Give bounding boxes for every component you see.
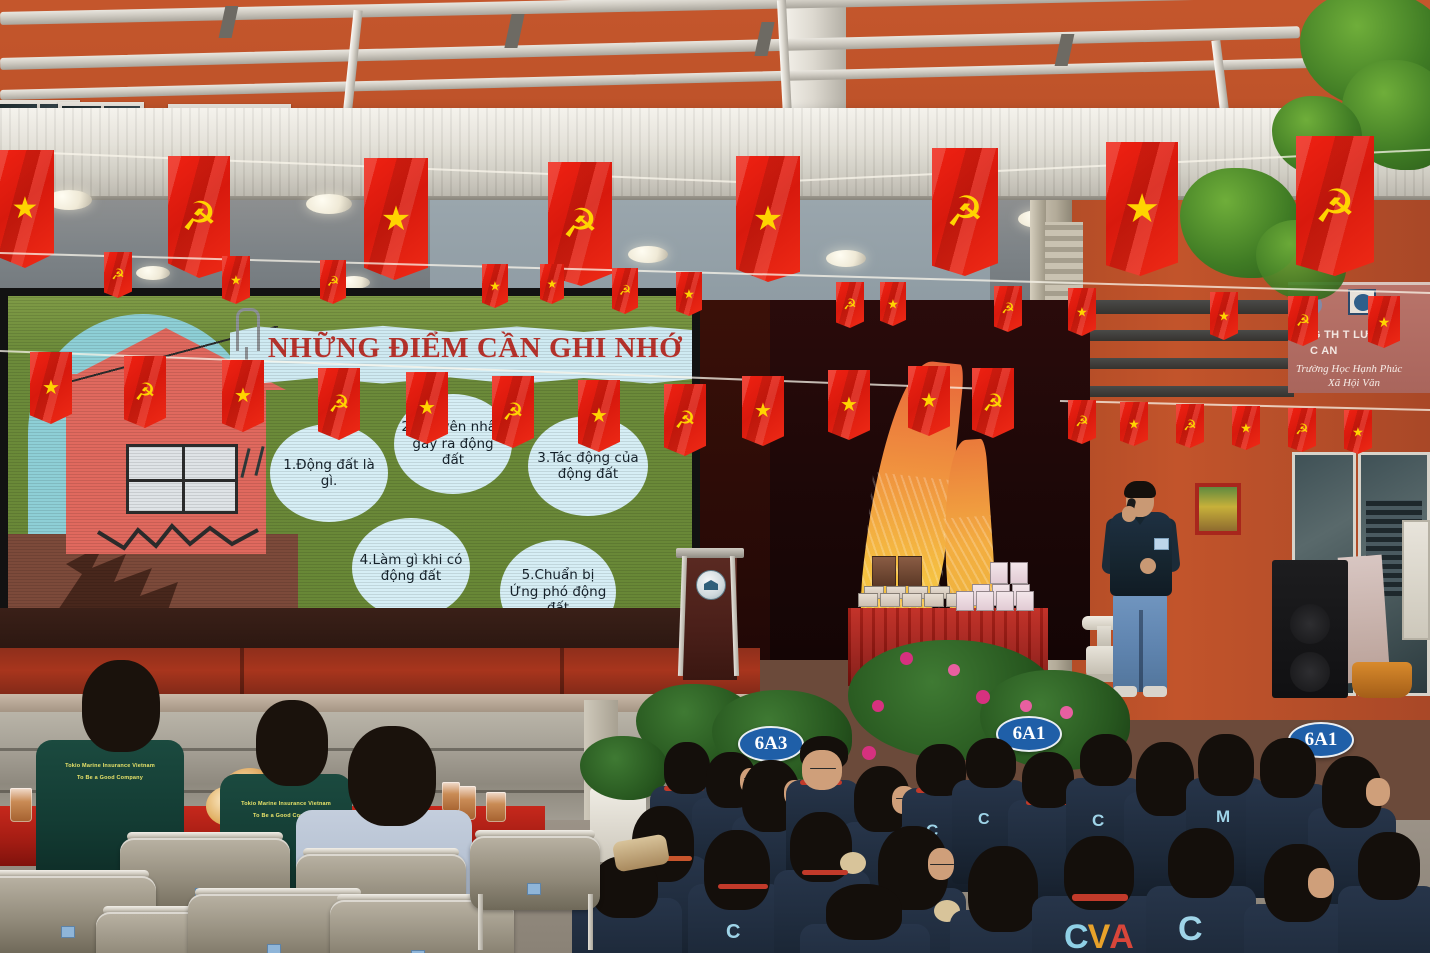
school-emblem-icon — [696, 570, 726, 600]
flag-hammer-sickle: ☭ — [932, 148, 998, 276]
class-sign-6a3: 6A3 — [738, 726, 804, 762]
assembly-photo-scene: ỜNG TH T LƯỢ C AN Trường Học Hạnh Phúc X… — [0, 0, 1430, 953]
flag-star: ★ — [222, 360, 264, 432]
banner-line-2: C AN — [1310, 345, 1338, 357]
gift-box — [1010, 562, 1028, 584]
panel-seam — [560, 648, 564, 698]
flag-hammer-sickle: ☭ — [1288, 296, 1318, 346]
flag-star: ★ — [736, 156, 800, 282]
banner-script-2: Xã Hội Văn — [1328, 377, 1380, 389]
flower — [1060, 706, 1073, 719]
planter-pot — [1352, 662, 1412, 698]
flag-star: ★ — [880, 282, 906, 326]
flag-star: ★ — [1068, 288, 1096, 336]
flag-star: ★ — [676, 272, 702, 316]
wall-artwork-frame — [1195, 483, 1241, 535]
presenter-polo-shirt — [1110, 512, 1172, 596]
presenter-hand — [1140, 558, 1156, 574]
gift-box — [872, 556, 896, 586]
gift-box — [956, 591, 974, 611]
gift-box — [924, 593, 944, 607]
flag-star: ★ — [1344, 410, 1372, 454]
slide-bubble-4: 4.Làm gì khi có động đất — [352, 518, 470, 610]
poster-board — [1402, 520, 1430, 640]
flower — [872, 700, 884, 712]
flag-hammer-sickle: ☭ — [836, 282, 864, 328]
drinking-glass — [10, 788, 32, 822]
flag-star: ★ — [1106, 142, 1178, 276]
slide-title: NHỮNG ĐIỂM CẦN GHI NHỚ — [240, 332, 692, 365]
flag-star: ★ — [742, 376, 784, 446]
flower — [948, 664, 960, 676]
staff-head — [256, 700, 328, 786]
ceiling-lamp — [136, 266, 170, 280]
panel-seam — [240, 648, 244, 698]
flag-hammer-sickle: ☭ — [664, 384, 706, 456]
gift-box — [858, 593, 878, 607]
flag-star: ★ — [0, 150, 54, 268]
ceiling-lamp — [306, 194, 352, 214]
flag-hammer-sickle: ☭ — [612, 268, 638, 314]
presenter-name-badge — [1154, 538, 1169, 550]
gift-box — [976, 591, 994, 611]
flag-star: ★ — [828, 370, 870, 440]
railing-beam — [1064, 358, 1294, 369]
flag-hammer-sickle: ☭ — [1176, 404, 1204, 448]
flag-star: ★ — [30, 352, 72, 424]
ceiling-lamp — [826, 250, 866, 267]
flag-hammer-sickle: ☭ — [972, 368, 1014, 438]
flag-star: ★ — [540, 264, 564, 304]
flag-hammer-sickle: ☭ — [1068, 400, 1096, 444]
flag-hammer-sickle: ☭ — [1296, 136, 1374, 276]
railing-beam — [1064, 330, 1294, 341]
gift-box — [898, 556, 922, 586]
flower — [900, 652, 913, 665]
folding-chair — [470, 836, 600, 948]
flower — [862, 746, 876, 760]
presenter-hand — [1122, 506, 1136, 522]
gift-box — [902, 593, 922, 607]
railing-beam — [1064, 386, 1294, 397]
flag-star: ★ — [1232, 406, 1260, 450]
ceiling-lamp — [628, 246, 668, 263]
attendee-head — [348, 726, 436, 826]
flag-star: ★ — [1368, 296, 1400, 348]
gift-box — [996, 591, 1014, 611]
staff-shirt-line-2: To Be a Good Company — [36, 774, 184, 782]
banner-script-1: Trường Học Hạnh Phúc — [1296, 363, 1402, 375]
flag-star: ★ — [406, 372, 448, 444]
flag-hammer-sickle: ☭ — [492, 376, 534, 448]
presentation-led-screen: NHỮNG ĐIỂM CẦN GHI NHỚ 1.Động đất là gì.… — [0, 288, 700, 618]
presenter-shoe — [1143, 686, 1167, 697]
gift-box — [1016, 591, 1034, 611]
house-crack-icon — [94, 514, 264, 558]
flag-hammer-sickle: ☭ — [104, 252, 132, 298]
gift-box — [880, 593, 900, 607]
presenter-jeans — [1113, 592, 1167, 692]
flag-star: ★ — [222, 256, 250, 304]
flag-hammer-sickle: ☭ — [318, 368, 360, 440]
flag-hammer-sickle: ☭ — [320, 260, 346, 304]
drinking-glass — [486, 792, 506, 822]
flower — [1020, 700, 1032, 712]
staff-shirt-line-1: Tokio Marine Insurance Vietnam — [36, 762, 184, 770]
flower — [976, 690, 990, 704]
presenter-hair — [1124, 481, 1156, 498]
staff-head — [82, 660, 160, 752]
staff-shirt-line-1: Tokio Marine Insurance Vietnam — [220, 800, 352, 808]
gift-box — [990, 562, 1008, 584]
flag-hammer-sickle: ☭ — [994, 286, 1022, 332]
slide-bubble-1: 1.Động đất là gì. — [270, 424, 388, 522]
pa-speaker — [1272, 560, 1348, 698]
flag-star: ★ — [908, 366, 950, 436]
flag-star: ★ — [1120, 402, 1148, 446]
flag-hammer-sickle: ☭ — [1288, 408, 1316, 452]
flag-star: ★ — [578, 380, 620, 452]
drinking-glass — [442, 782, 460, 812]
school-logo-cva: CVA — [1064, 920, 1133, 953]
flag-hammer-sickle: ☭ — [124, 356, 166, 428]
flag-star: ★ — [1210, 292, 1238, 340]
railing-beam — [1064, 300, 1294, 314]
flag-star: ★ — [482, 264, 508, 308]
